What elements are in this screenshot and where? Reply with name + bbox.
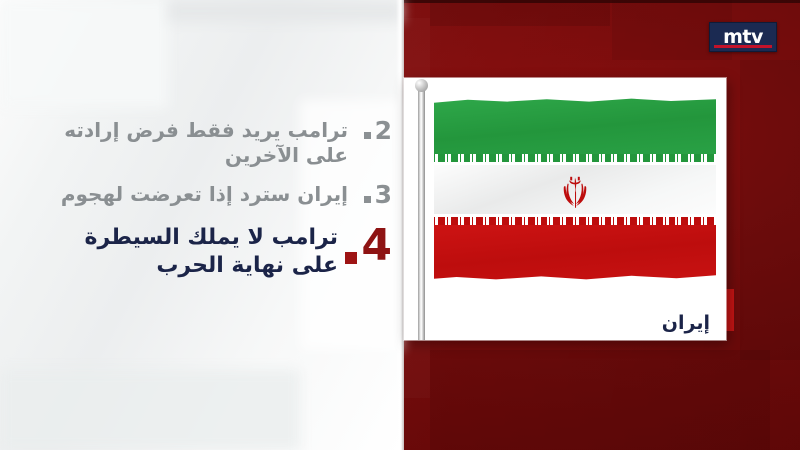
iran-emblem-icon bbox=[555, 172, 595, 212]
left-panel-sheen-2 bbox=[168, 0, 402, 22]
mtv-logo-accent-bar bbox=[714, 45, 772, 48]
left-panel-sheen-3 bbox=[0, 370, 300, 450]
list-marker-3: 3 bbox=[348, 182, 392, 207]
list-marker-4: 4 bbox=[338, 224, 392, 268]
flagpole bbox=[418, 84, 425, 340]
flag-kufic-band-top bbox=[434, 154, 716, 165]
mtv-logo[interactable]: mtv bbox=[709, 22, 777, 52]
broadcast-screen: 2 ترامب يريد فقط فرض إرادته على الآخرين … bbox=[0, 0, 800, 450]
flag-kufic-band-bottom bbox=[434, 214, 716, 225]
left-panel-sheen-1 bbox=[0, 0, 168, 108]
flag-stripe-green bbox=[434, 98, 716, 158]
iran-flag bbox=[434, 98, 716, 280]
left-panel-edge bbox=[396, 0, 404, 450]
list-number-2: 2 bbox=[375, 118, 392, 143]
list-item-2[interactable]: 2 ترامب يريد فقط فرض إرادته على الآخرين bbox=[0, 118, 392, 168]
flagpole-finial-icon bbox=[415, 79, 428, 92]
background-panel-1 bbox=[430, 0, 610, 26]
background-panel-4 bbox=[430, 350, 770, 450]
bullet-square-icon bbox=[364, 196, 371, 203]
list-marker-2: 2 bbox=[348, 118, 392, 143]
list-number-4: 4 bbox=[361, 224, 392, 268]
list-text-3: إيران سترد إذا تعرضت لهجوم bbox=[46, 182, 348, 207]
bullet-square-icon bbox=[364, 132, 371, 139]
country-caption: إيران bbox=[662, 312, 710, 334]
background-panel-3 bbox=[740, 60, 800, 360]
bullet-square-icon bbox=[345, 252, 357, 264]
list-number-3: 3 bbox=[375, 182, 392, 207]
headline-list: 2 ترامب يريد فقط فرض إرادته على الآخرين … bbox=[0, 118, 392, 295]
list-item-3[interactable]: 3 إيران سترد إذا تعرضت لهجوم bbox=[0, 182, 392, 207]
list-item-4[interactable]: 4 ترامب لا يملك السيطرة على نهاية الحرب bbox=[0, 224, 392, 281]
flag-card: إيران bbox=[404, 78, 726, 340]
list-text-4: ترامب لا يملك السيطرة على نهاية الحرب bbox=[36, 224, 338, 281]
flag-stripe-red bbox=[434, 220, 716, 280]
list-text-2: ترامب يريد فقط فرض إرادته على الآخرين bbox=[46, 118, 348, 168]
mtv-logo-text: mtv bbox=[710, 27, 776, 47]
